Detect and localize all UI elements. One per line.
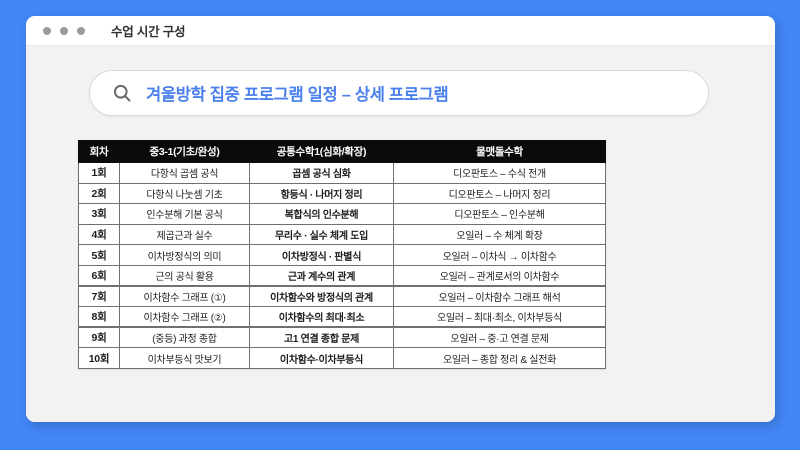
content-area: 겨울방학 집중 프로그램 일정 – 상세 프로그램 회차 중3-1(기초/완성)… [26,46,775,422]
app-window: 수업 시간 구성 겨울방학 집중 프로그램 일정 – 상세 프로그램 회차 중3… [26,16,775,422]
cell-common: 이차함수와 방정식의 관계 [250,286,394,307]
window-title: 수업 시간 구성 [111,21,185,40]
table-row: 1회 다항식 곱셈 공식 곱셈 공식 심화 디오판토스 – 수식 전개 [79,163,606,184]
column-header-middle: 중3-1(기초/완성) [120,141,250,163]
cell-common: 무리수 · 실수 체계 도입 [250,224,394,245]
cell-round: 6회 [79,265,120,286]
column-header-round: 회차 [79,141,120,163]
cell-middle: (중등) 과정 종합 [120,327,250,348]
cell-platform: 오일러 – 중·고 연결 문제 [394,327,606,348]
table-row: 8회 이차함수 그래프 (②) 이차함수의 최대·최소 오일러 – 최대·최소,… [79,307,606,328]
search-bar[interactable]: 겨울방학 집중 프로그램 일정 – 상세 프로그램 [89,70,709,116]
table-header: 회차 중3-1(기초/완성) 공통수학1(심화/확장) 물맷돌수학 [79,141,606,163]
cell-round: 1회 [79,163,120,184]
cell-middle: 이차함수 그래프 (②) [120,307,250,328]
cell-middle: 이차방정식의 의미 [120,245,250,266]
cell-middle: 인수분해 기본 공식 [120,204,250,225]
cell-middle: 근의 공식 활용 [120,265,250,286]
cell-round: 7회 [79,286,120,307]
cell-platform: 오일러 – 종합 정리 & 실전화 [394,348,606,369]
cell-middle: 제곱근과 실수 [120,224,250,245]
cell-round: 5회 [79,245,120,266]
cell-middle: 이차부등식 맛보기 [120,348,250,369]
cell-platform: 디오판토스 – 인수분해 [394,204,606,225]
cell-common: 고1 연결 종합 문제 [250,327,394,348]
window-minimize-dot[interactable] [60,27,68,35]
cell-platform: 오일러 – 최대·최소, 이차부등식 [394,307,606,328]
cell-common: 곱셈 공식 심화 [250,163,394,184]
column-header-platform: 물맷돌수학 [394,141,606,163]
cell-platform: 오일러 – 이차식 → 이차함수 [394,245,606,266]
window-titlebar: 수업 시간 구성 [26,16,775,46]
cell-round: 3회 [79,204,120,225]
cell-round: 10회 [79,348,120,369]
cell-platform: 디오판토스 – 나머지 정리 [394,183,606,204]
cell-middle: 이차함수 그래프 (①) [120,286,250,307]
window-maximize-dot[interactable] [77,27,85,35]
cell-common: 이차함수의 최대·최소 [250,307,394,328]
table-row: 6회 근의 공식 활용 근과 계수의 관계 오일러 – 관계로서의 이차함수 [79,265,606,286]
table-row: 3회 인수분해 기본 공식 복합식의 인수분해 디오판토스 – 인수분해 [79,204,606,225]
table-row: 7회 이차함수 그래프 (①) 이차함수와 방정식의 관계 오일러 – 이차함수… [79,286,606,307]
cell-common: 근과 계수의 관계 [250,265,394,286]
search-input-value[interactable]: 겨울방학 집중 프로그램 일정 – 상세 프로그램 [146,81,448,105]
table-row: 5회 이차방정식의 의미 이차방정식 · 판별식 오일러 – 이차식 → 이차함… [79,245,606,266]
table-body: 1회 다항식 곱셈 공식 곱셈 공식 심화 디오판토스 – 수식 전개 2회 다… [79,163,606,369]
schedule-table: 회차 중3-1(기초/완성) 공통수학1(심화/확장) 물맷돌수학 1회 다항식… [78,140,606,369]
cell-round: 4회 [79,224,120,245]
cell-platform: 오일러 – 관계로서의 이차함수 [394,265,606,286]
table-row: 4회 제곱근과 실수 무리수 · 실수 체계 도입 오일러 – 수 체계 확장 [79,224,606,245]
cell-platform: 디오판토스 – 수식 전개 [394,163,606,184]
table-row: 9회 (중등) 과정 종합 고1 연결 종합 문제 오일러 – 중·고 연결 문… [79,327,606,348]
cell-common: 항등식 · 나머지 정리 [250,183,394,204]
cell-common: 이차함수·이차부등식 [250,348,394,369]
table-header-row: 회차 중3-1(기초/완성) 공통수학1(심화/확장) 물맷돌수학 [79,141,606,163]
cell-round: 9회 [79,327,120,348]
column-header-common: 공통수학1(심화/확장) [250,141,394,163]
cell-common: 이차방정식 · 판별식 [250,245,394,266]
cell-platform: 오일러 – 이차함수 그래프 해석 [394,286,606,307]
window-close-dot[interactable] [43,27,51,35]
cell-common: 복합식의 인수분해 [250,204,394,225]
cell-round: 2회 [79,183,120,204]
cell-middle: 다항식 곱셈 공식 [120,163,250,184]
table-row: 2회 다항식 나눗셈 기초 항등식 · 나머지 정리 디오판토스 – 나머지 정… [79,183,606,204]
table-row: 10회 이차부등식 맛보기 이차함수·이차부등식 오일러 – 종합 정리 & 실… [79,348,606,369]
traffic-light-dots [43,27,85,35]
search-icon [112,83,132,103]
cell-middle: 다항식 나눗셈 기초 [120,183,250,204]
cell-round: 8회 [79,307,120,328]
cell-platform: 오일러 – 수 체계 확장 [394,224,606,245]
